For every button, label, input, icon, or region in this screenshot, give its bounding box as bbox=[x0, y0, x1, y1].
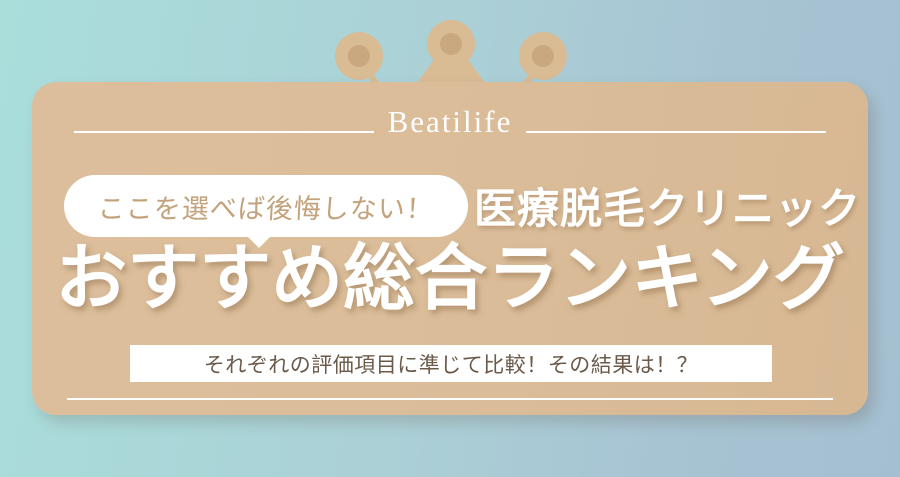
banner-card: Beatilife ここを選べば後悔しない！ 医療脱毛クリニック おすすめ総合ラ… bbox=[32, 82, 868, 415]
speech-bubble-text: ここを選べば後悔しない！ bbox=[97, 187, 435, 226]
brand-rule-right bbox=[526, 131, 826, 133]
subheading: 医療脱毛クリニック bbox=[474, 174, 861, 236]
speech-bubble: ここを選べば後悔しない！ bbox=[64, 175, 468, 237]
brand-row: Beatilife bbox=[32, 100, 868, 142]
brand-name: Beatilife bbox=[374, 106, 527, 137]
caption-strip: それぞれの評価項目に準じて比較！その結果は！？ bbox=[130, 345, 772, 382]
caption-text: それぞれの評価項目に準じて比較！その結果は！？ bbox=[204, 349, 699, 379]
page-title: おすすめ総合ランキング bbox=[32, 242, 868, 314]
bottom-rule bbox=[67, 398, 833, 400]
page-title-text: おすすめ総合ランキング bbox=[55, 236, 845, 320]
speech-bubble-tail bbox=[246, 235, 272, 248]
brand-rule-left bbox=[74, 131, 374, 133]
subheading-text: 医療脱毛クリニック bbox=[474, 175, 861, 236]
banner-canvas: Beatilife ここを選べば後悔しない！ 医療脱毛クリニック おすすめ総合ラ… bbox=[0, 0, 900, 477]
